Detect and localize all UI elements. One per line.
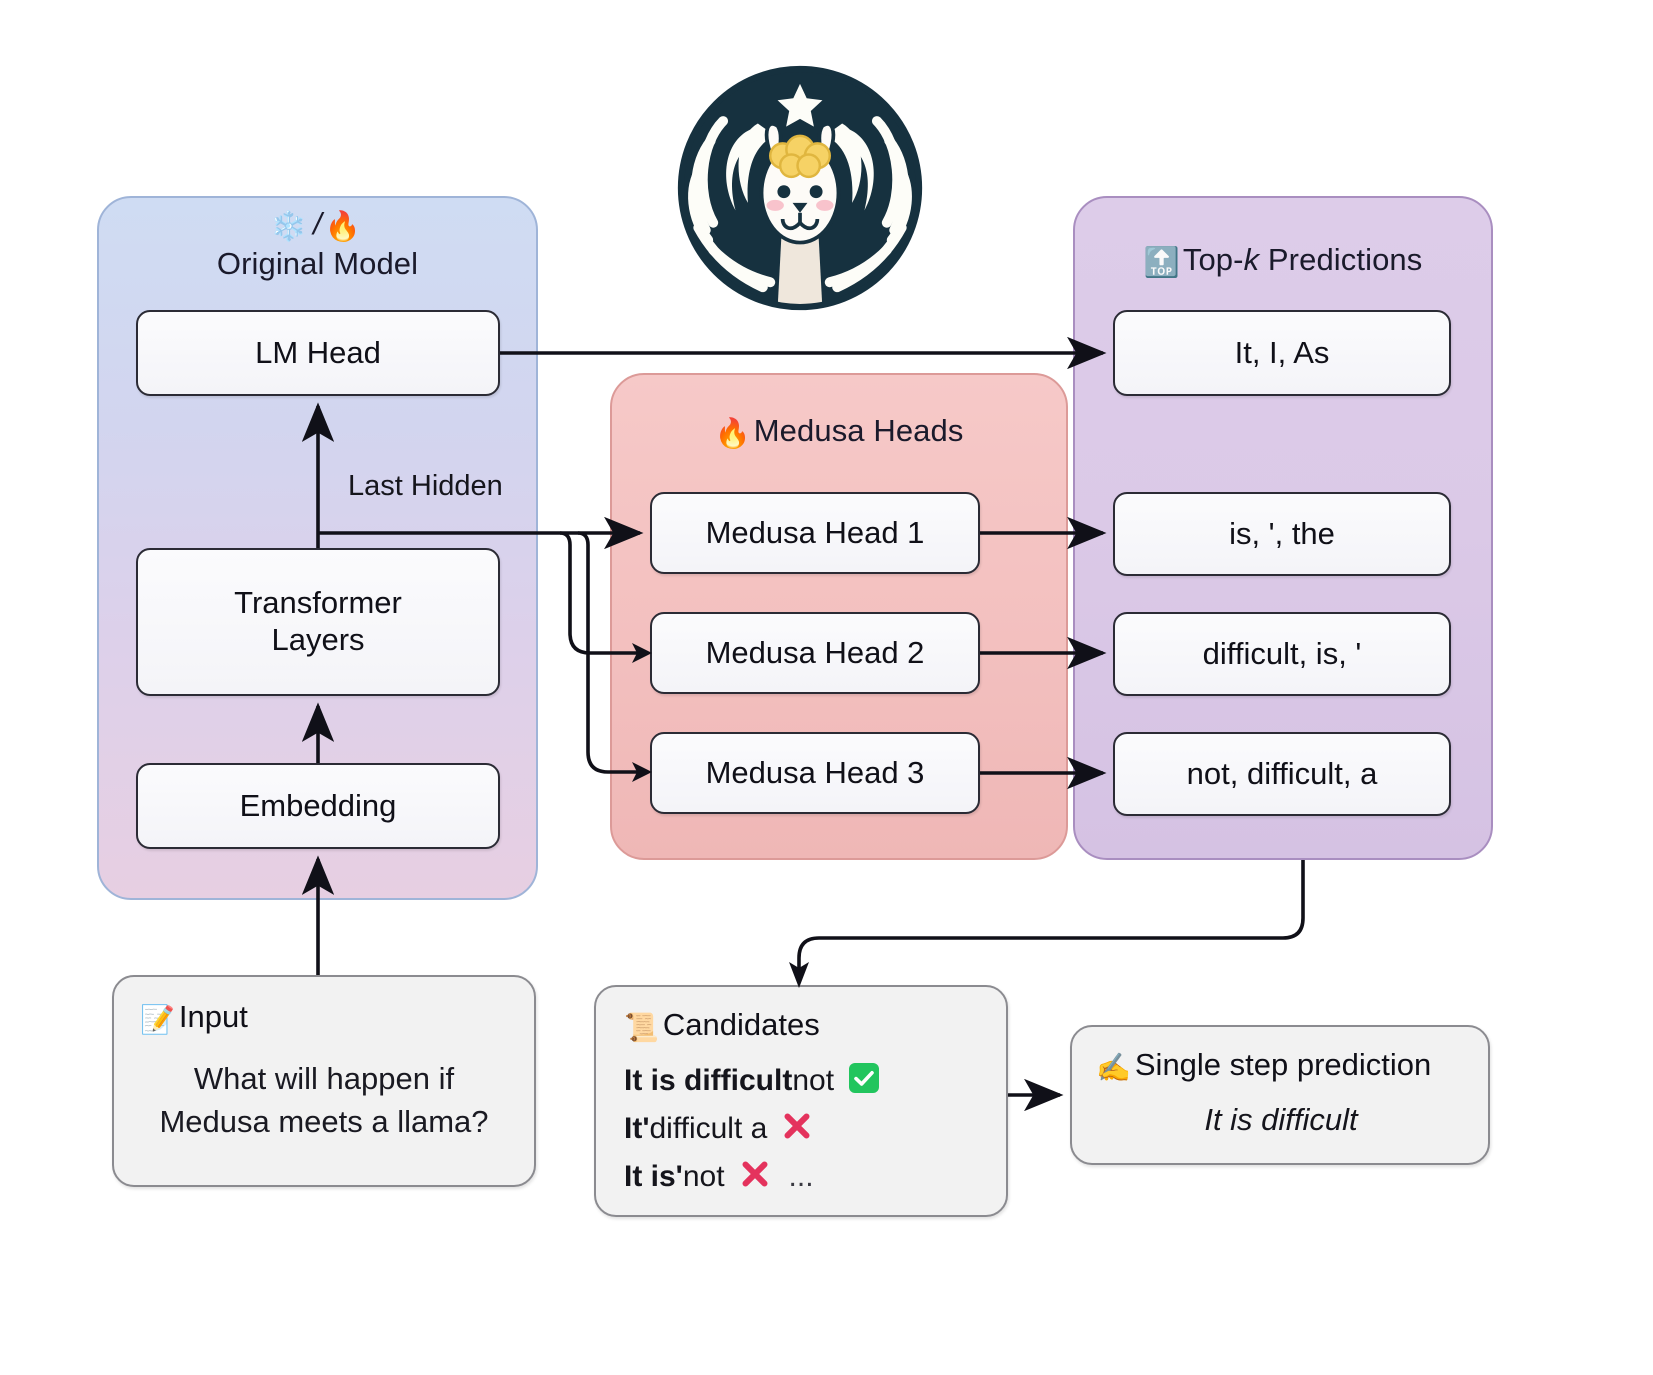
node-topk-2-label: difficult, is, ' [1203,636,1362,673]
node-transformer-layers-label: Transformer Layers [234,585,402,658]
single-step-title: Single step prediction [1135,1047,1431,1082]
title-separator: / [310,206,325,241]
node-transformer-layers[interactable]: Transformer Layers [136,548,500,696]
medusa-heads-title: 🔥Medusa Heads [612,413,1066,451]
candidate-row-2-bold: It' [624,1114,649,1144]
candidate-row-1-bold: It is difficult [624,1066,792,1096]
input-box-header: 📝Input [140,999,508,1036]
topk-title-prefix: Top- [1183,242,1244,277]
node-lm-head[interactable]: LM Head [136,310,500,396]
candidate-row-3-bold: It is' [624,1162,683,1192]
node-embedding[interactable]: Embedding [136,763,500,849]
candidate-row-1: It is difficult not [624,1062,982,1100]
single-step-prediction-box[interactable]: ✍️Single step prediction It is difficult [1070,1025,1490,1165]
medusa-heads-label: Medusa Heads [754,413,964,448]
node-embedding-label: Embedding [240,788,397,825]
input-text-line-1: What will happen if [140,1058,508,1101]
input-box-title: Input [179,999,248,1034]
original-model-label: Original Model [99,246,536,282]
single-step-value: It is difficult [1096,1102,1466,1138]
candidates-box[interactable]: 📜Candidates It is difficult not It' diff… [594,985,1008,1217]
node-medusa-head-1[interactable]: Medusa Head 1 [650,492,980,574]
writing-hand-icon: ✍️ [1096,1052,1131,1083]
candidate-row-3: It is' not ... [624,1158,982,1196]
fire-icon: 🔥 [715,418,751,450]
candidates-box-title: Candidates [663,1007,820,1042]
node-topk-1-label: is, ', the [1229,516,1335,553]
candidate-row-1-plain: not [792,1066,834,1096]
cross-icon [739,1158,771,1196]
original-model-title: ❄️/🔥 [99,206,536,244]
node-medusa-head-2-label: Medusa Head 2 [706,635,925,672]
node-medusa-head-3-label: Medusa Head 3 [706,755,925,792]
candidate-row-3-ellipsis: ... [789,1162,814,1192]
node-topk-0-label: It, I, As [1235,335,1330,372]
node-medusa-head-1-label: Medusa Head 1 [706,515,925,552]
node-topk-2[interactable]: difficult, is, ' [1113,612,1451,696]
candidate-row-3-plain: not [683,1162,725,1192]
topk-title-k: k [1244,242,1260,277]
top-arrow-icon: 🔝 [1144,247,1180,279]
snowflake-icon: ❄️ [271,211,307,243]
check-icon [848,1062,880,1100]
cross-icon [781,1110,813,1148]
memo-icon: 📝 [140,1004,175,1035]
candidates-box-header: 📜Candidates [624,1007,982,1044]
node-topk-0[interactable]: It, I, As [1113,310,1451,396]
node-topk-1[interactable]: is, ', the [1113,492,1451,576]
scroll-icon: 📜 [624,1012,659,1043]
single-step-header: ✍️Single step prediction [1096,1047,1466,1084]
fire-icon: 🔥 [325,211,361,243]
diagram-canvas: ❄️/🔥 Original Model LM Head Transformer … [0,0,1653,1375]
topk-title: 🔝Top-k Predictions [1075,242,1491,280]
node-topk-3[interactable]: not, difficult, a [1113,732,1451,816]
edge-topk-to-candidates [799,860,1303,968]
candidate-row-2: It' difficult a [624,1110,982,1148]
node-topk-3-label: not, difficult, a [1187,756,1378,793]
candidate-row-2-plain: difficult a [649,1114,767,1144]
medusa-llama-logo [676,64,924,312]
node-medusa-head-2[interactable]: Medusa Head 2 [650,612,980,694]
input-box[interactable]: 📝Input What will happen if Medusa meets … [112,975,536,1187]
node-lm-head-label: LM Head [255,335,381,372]
node-medusa-head-3[interactable]: Medusa Head 3 [650,732,980,814]
topk-title-suffix: Predictions [1259,242,1422,277]
input-text-line-2: Medusa meets a llama? [140,1101,508,1144]
edge-label-last-hidden: Last Hidden [348,470,503,503]
